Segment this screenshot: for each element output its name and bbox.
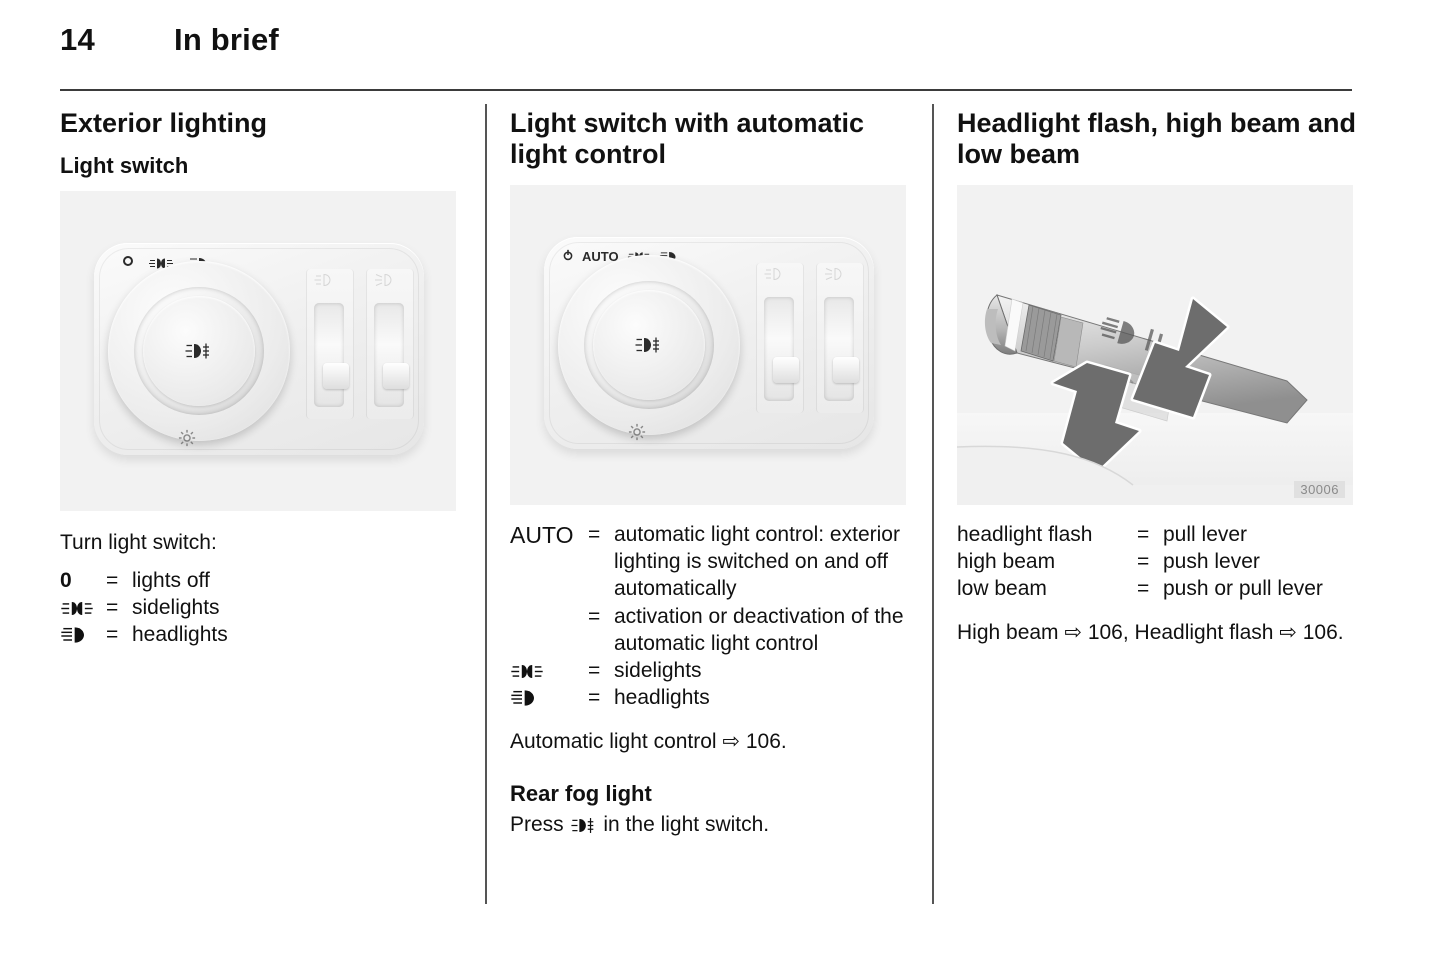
lever-actions-list: headlight flash = pull lever high beam =… (957, 521, 1357, 603)
knob-ring (584, 281, 714, 409)
light-switch-panel (94, 243, 424, 455)
list-item: = activation or deactivation of the auto… (510, 603, 910, 658)
list-item: 0 = lights off (60, 567, 460, 594)
slider-thumb[interactable] (833, 357, 859, 383)
auto-light-control-list: AUTO = automatic light control: exterior… (510, 521, 910, 712)
figure-light-switch (60, 191, 456, 511)
rotary-light-switch-knob[interactable] (558, 255, 740, 435)
figure-light-switch-auto: AUTO (510, 185, 906, 505)
headlights-icon (659, 251, 681, 263)
high-beam-crossref: High beam ⇨ 106, Headlight flash ⇨ 106. (957, 619, 1357, 646)
dial-markings: AUTO (556, 237, 726, 277)
key-sidelights (60, 594, 106, 621)
rear-fog-light-heading: Rear fog light (510, 781, 910, 807)
power-icon (562, 248, 574, 266)
key-headlights (60, 621, 106, 648)
slider-track[interactable] (824, 297, 854, 401)
manual-page: 14 In brief Exterior lighting Light swit… (0, 0, 1445, 965)
light-switch-positions-list: 0 = lights off (60, 567, 460, 649)
list-item: = headlights (60, 621, 460, 648)
value-lights-off: lights off (132, 567, 460, 594)
value-headlights: headlights (132, 621, 460, 648)
instrument-illumination-slider[interactable] (756, 263, 804, 413)
header-rule (60, 89, 1352, 91)
value-low-beam: push or pull lever (1163, 575, 1357, 602)
instrument-illumination-icon (313, 273, 335, 292)
auto-label: AUTO (582, 249, 619, 264)
key-sidelights (510, 657, 588, 684)
list-item: = sidelights (60, 594, 460, 621)
value-auto: automatic light control: exterior lighti… (614, 521, 910, 603)
sidelights-icon (148, 257, 174, 270)
value-sidelights: sidelights (614, 657, 910, 684)
key-headlight-flash: headlight flash (957, 521, 1137, 548)
key-lights-off: 0 (60, 567, 106, 594)
column-headlight-flash: Headlight flash, high beam and low beam (957, 108, 1357, 656)
section-title: In brief (174, 22, 279, 58)
page-number: 14 (60, 22, 95, 58)
list-item: low beam = push or pull lever (957, 575, 1357, 602)
lever-illustration (957, 185, 1353, 505)
column3-heading: Headlight flash, high beam and low beam (957, 108, 1357, 171)
column-exterior-lighting: Exterior lighting Light switch (60, 108, 460, 648)
column1-heading: Exterior lighting (60, 108, 460, 139)
sidelights-icon (60, 600, 94, 617)
dial-markings (106, 243, 276, 283)
figure-id-label: 30006 (1294, 481, 1345, 498)
column1-subheading: Light switch (60, 153, 460, 179)
key-high-beam: high beam (957, 548, 1137, 575)
headlight-range-adjustment-slider[interactable] (366, 269, 414, 419)
auto-light-control-crossref: Automatic light control ⇨ 106. (510, 728, 910, 755)
slider-track[interactable] (374, 303, 404, 407)
headlights-icon (510, 689, 542, 707)
knob-ring (134, 287, 264, 415)
list-item: AUTO = automatic light control: exterior… (510, 521, 910, 603)
knob-face (143, 296, 255, 406)
instrument-illumination-sun-icon (628, 423, 646, 446)
list-item: = headlights (510, 684, 910, 711)
spacer (957, 603, 1357, 619)
slider-thumb[interactable] (323, 363, 349, 389)
sidelights-icon (627, 251, 651, 263)
slider-thumb[interactable] (383, 363, 409, 389)
value-headlights: headlights (614, 684, 910, 711)
equals-sign: = (1137, 548, 1163, 575)
column2-heading: Light switch with automatic light contro… (510, 108, 910, 171)
column-divider-1 (485, 104, 487, 904)
equals-sign: = (588, 603, 614, 630)
column-auto-light-control: Light switch with automatic light contro… (510, 108, 910, 848)
instrument-illumination-slider[interactable] (306, 269, 354, 419)
equals-sign: = (1137, 575, 1163, 602)
headlights-icon (188, 257, 212, 270)
list-item: headlight flash = pull lever (957, 521, 1357, 548)
slider-thumb[interactable] (773, 357, 799, 383)
key-auto: AUTO (510, 521, 588, 551)
value-high-beam: push lever (1163, 548, 1357, 575)
rear-fog-light-icon (634, 336, 664, 354)
equals-sign: = (588, 684, 614, 711)
list-item: = sidelights (510, 657, 910, 684)
rear-fog-light-icon (184, 342, 214, 360)
rear-fog-text-before: Press (510, 813, 564, 836)
equals-sign: = (106, 594, 132, 621)
knob-face (593, 290, 705, 400)
equals-sign: = (588, 521, 614, 548)
rear-fog-light-icon (570, 817, 598, 834)
key-headlights (510, 684, 588, 711)
spacer (510, 712, 910, 728)
rotary-light-switch-knob[interactable] (108, 261, 290, 441)
equals-sign: = (588, 657, 614, 684)
value-activation-deactivation: activation or deactivation of the automa… (614, 603, 910, 658)
light-switch-auto-panel: AUTO (544, 237, 874, 449)
column-divider-2 (932, 104, 934, 904)
key-low-beam: low beam (957, 575, 1137, 602)
figure-turn-signal-lever: 30006 (957, 185, 1353, 505)
dial-mark-off (122, 254, 134, 272)
equals-sign: = (1137, 521, 1163, 548)
equals-sign: = (106, 567, 132, 594)
instrument-illumination-sun-icon (178, 429, 196, 452)
equals-sign: = (106, 621, 132, 648)
sidelights-icon (510, 663, 544, 680)
list-item: high beam = push lever (957, 548, 1357, 575)
turn-light-switch-intro: Turn light switch: (60, 529, 460, 556)
slider-track[interactable] (764, 297, 794, 401)
page-header: 14 In brief (60, 22, 1350, 80)
instrument-illumination-icon (763, 267, 785, 286)
rear-fog-light-instruction: Press in the light switch. (510, 811, 910, 838)
headlight-range-adjustment-icon (823, 267, 845, 286)
headlight-range-adjustment-icon (373, 273, 395, 292)
headlights-icon (60, 626, 92, 644)
slider-track[interactable] (314, 303, 344, 407)
rear-fog-text-after: in the light switch. (603, 813, 769, 836)
value-sidelights: sidelights (132, 594, 460, 621)
headlight-range-adjustment-slider[interactable] (816, 263, 864, 413)
value-headlight-flash: pull lever (1163, 521, 1357, 548)
